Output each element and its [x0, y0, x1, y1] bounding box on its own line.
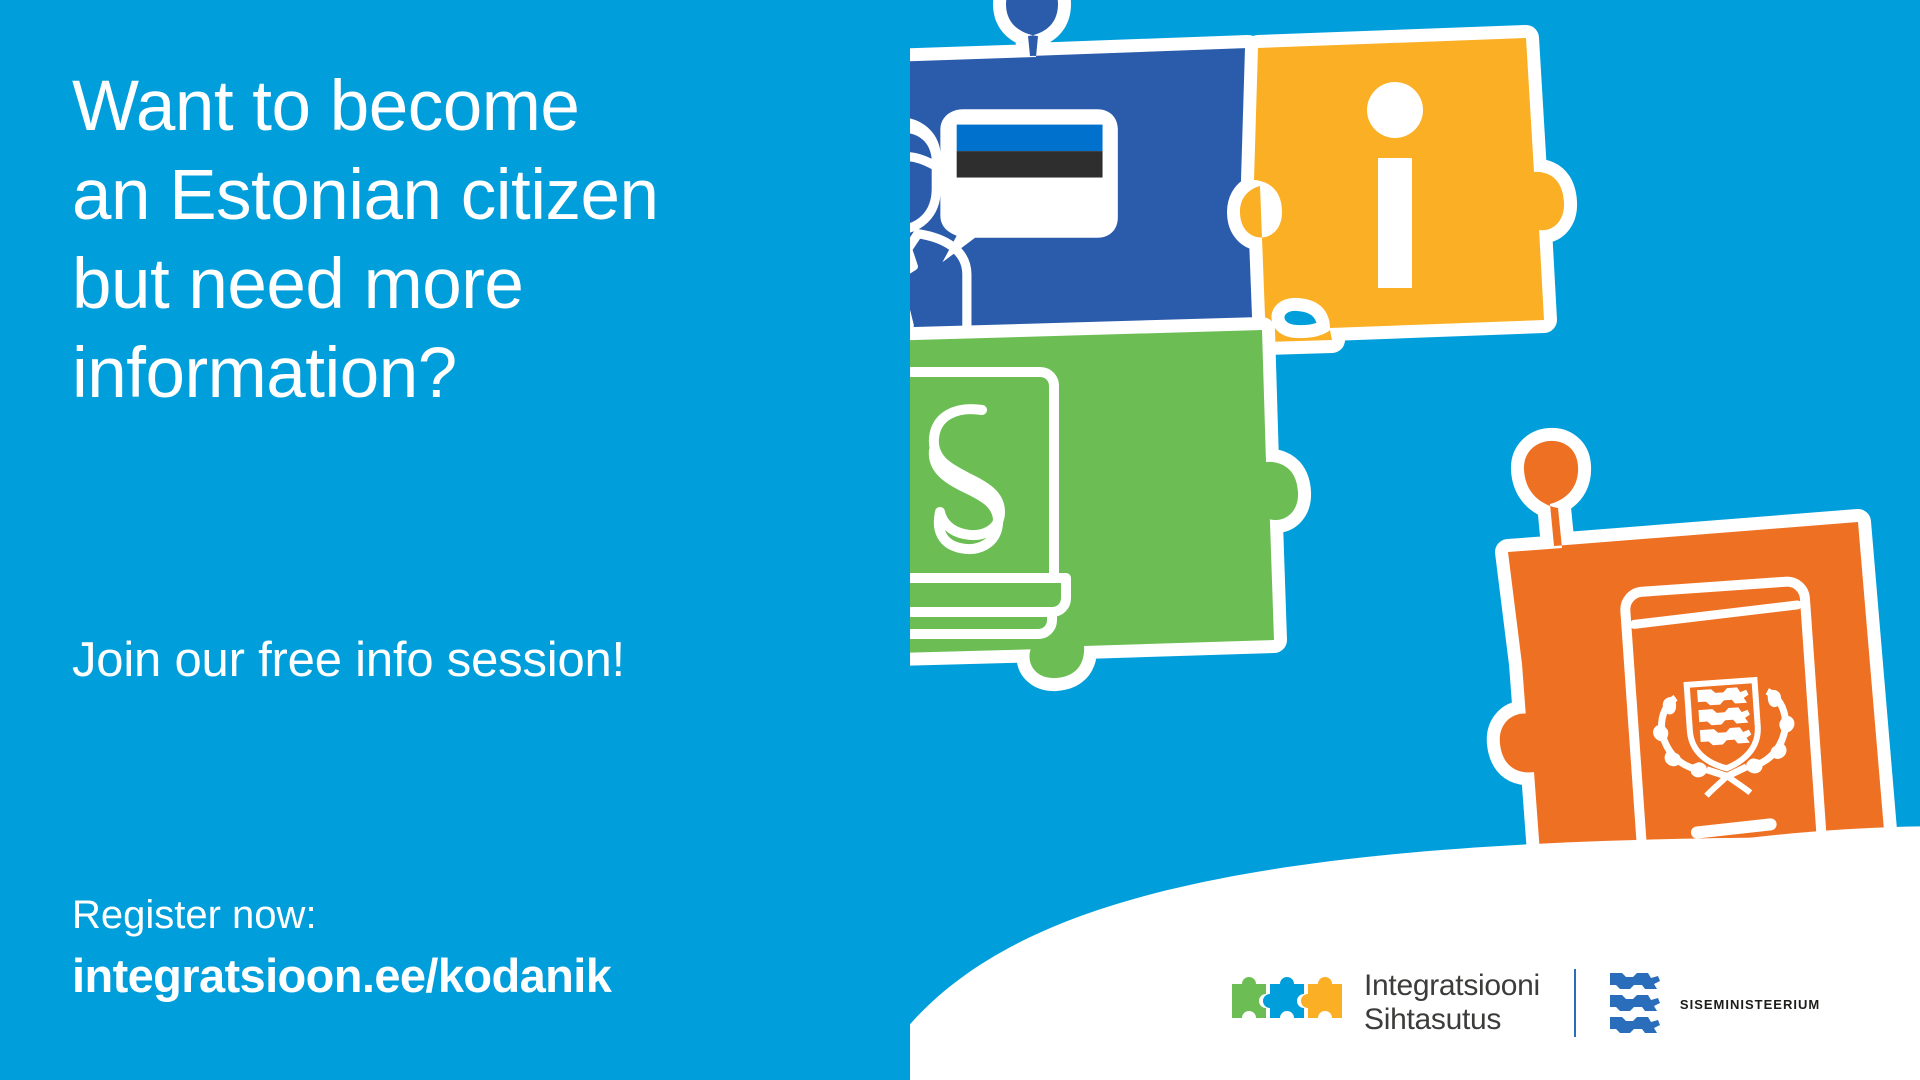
text-column: Want to become an Estonian citizen but n…	[72, 0, 892, 1080]
integration-foundation-name: Integratsiooni Sihtasutus	[1364, 969, 1540, 1037]
puzzle-piece-information	[1240, 38, 1564, 342]
subheadline: Join our free info session!	[72, 630, 892, 690]
puzzle-piece-language	[910, 0, 1282, 344]
puzzle-piece-law	[910, 330, 1298, 678]
ministry-name: Siseministeerium	[1680, 993, 1820, 1014]
register-label: Register now:	[72, 890, 317, 940]
ministry-logo: Siseministeerium	[1606, 970, 1820, 1036]
logo-bar: Integratsiooni Sihtasutus Siseministeeri…	[1230, 955, 1820, 1051]
estonian-coat-of-arms-three-lions-icon	[1606, 970, 1660, 1036]
promo-banner: Want to become an Estonian citizen but n…	[0, 0, 1920, 1080]
integration-foundation-logo: Integratsiooni Sihtasutus	[1230, 966, 1540, 1040]
headline: Want to become an Estonian citizen but n…	[72, 62, 892, 418]
three-puzzle-pieces-icon	[1230, 966, 1348, 1040]
puzzle-piece-passport	[1500, 441, 1886, 880]
register-url[interactable]: integratsioon.ee/kodanik	[72, 947, 611, 1005]
puzzle-graphic	[910, 0, 1920, 1080]
logo-divider	[1574, 969, 1576, 1037]
